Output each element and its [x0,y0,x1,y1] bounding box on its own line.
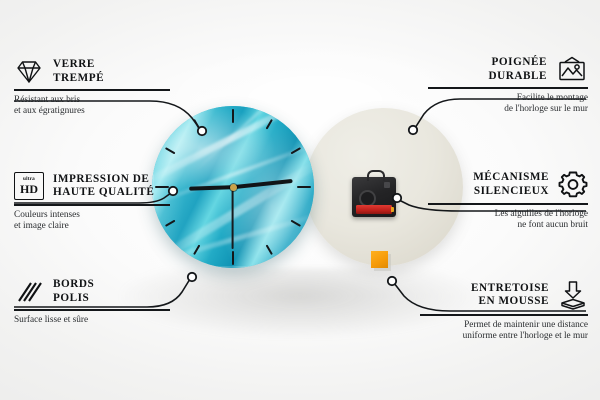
feature-entretoise-en-mousse: ENTRETOISE EN MOUSSE Permet de maintenir… [420,280,588,343]
feature-title: ENTRETOISE EN MOUSSE [471,282,549,309]
feature-subtitle: Les aiguilles de l'horloge ne font aucun… [428,209,588,232]
feature-rule [14,89,170,91]
polished-edges-icon [14,279,44,305]
feature-title: MÉCANISME SILENCIEUX [473,171,549,198]
feature-title: POIGNÉE DURABLE [488,56,547,83]
ultra-hd-icon: ultra HD [14,172,44,200]
ultra-hd-icon-main-text: HD [20,183,38,195]
mechanism-nub [384,182,390,188]
connector-dot-bords [188,273,196,281]
feature-subtitle: Résistant aux bris et aux égratignures [14,95,170,118]
second-hand [232,187,234,249]
connector-dot-entretoise [388,277,396,285]
battery [356,205,392,214]
feature-impression-haute-qualite: ultra HD IMPRESSION DE HAUTE QUALITÉ Cou… [14,172,170,233]
feature-bords-polis: BORDS POLIS Surface lisse et sûre [14,278,170,326]
feature-rule [14,309,170,311]
feature-subtitle: Couleurs intenses et image claire [14,210,170,233]
feature-verre-trempe: VERRE TREMPÉ Résistant aux bris et aux é… [14,58,170,118]
feature-rule [428,203,588,205]
feature-title: IMPRESSION DE HAUTE QUALITÉ [53,173,154,200]
feature-subtitle: Surface lisse et sûre [14,315,170,327]
feature-rule [14,204,170,206]
feature-title: VERRE TREMPÉ [53,58,104,85]
feature-rule [428,87,588,89]
foam-spacer-icon [558,280,588,310]
infographic-canvas: VERRE TREMPÉ Résistant aux bris et aux é… [0,0,600,400]
feature-subtitle: Facilite le montage de l'horloge sur le … [428,93,588,116]
feature-subtitle: Permet de maintenir une distance uniform… [420,320,588,343]
wall-hanger-icon [556,56,588,83]
feature-rule [420,314,588,316]
feature-title: BORDS POLIS [53,278,94,305]
clock-center-cap [230,184,237,191]
gear-icon [558,170,588,199]
clock-mechanism [352,177,396,217]
clock-tick [232,109,234,187]
feature-poignee-durable: POIGNÉE DURABLE Facilite le montage de l… [428,56,588,116]
foam-spacer [371,251,388,268]
hanger-loop-icon [367,170,385,181]
diamond-icon [14,59,44,85]
clock-face [152,106,314,268]
feature-mecanisme-silencieux: MÉCANISME SILENCIEUX Les aiguilles de l'… [428,170,588,232]
